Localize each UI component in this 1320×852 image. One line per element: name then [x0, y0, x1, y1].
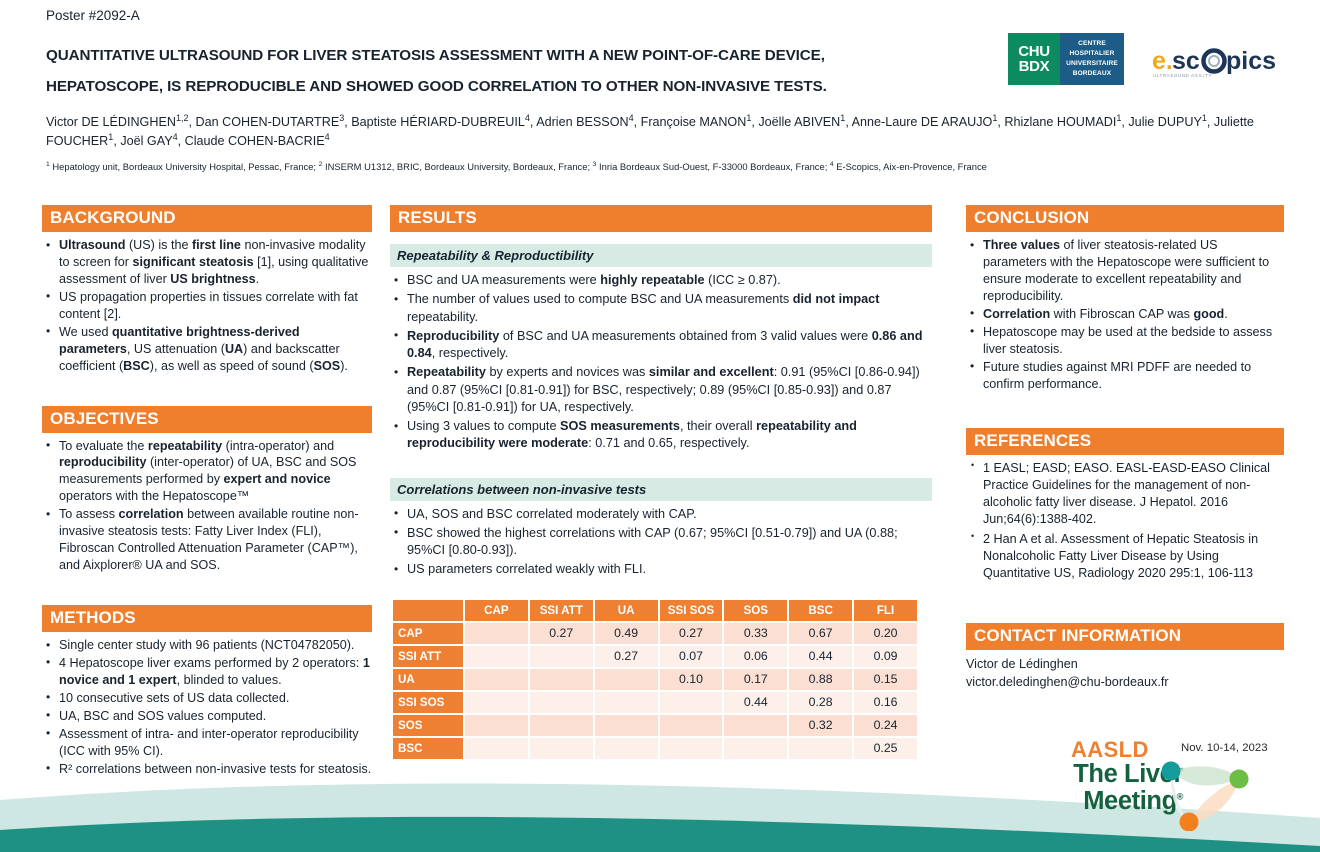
table-header-row: CAPSSI ATTUASSI SOSSOSBSCFLI: [393, 600, 917, 621]
escopics-pics-text: pics: [1226, 47, 1276, 75]
swoosh-dot-green: [1230, 770, 1249, 789]
contact-details: Victor de Lédinghen victor.deledinghen@c…: [966, 656, 1284, 692]
list-item: We used quantitative brightness-derived …: [42, 324, 372, 375]
section-header-references: REFERENCES: [966, 428, 1284, 455]
table-corner-cell: [393, 600, 463, 621]
table-cell: 0.67: [789, 623, 852, 644]
chu-monogram: CHU BDX: [1008, 33, 1060, 85]
table-cell: [789, 738, 852, 759]
list-item: Using 3 values to compute SOS measuremen…: [390, 418, 932, 453]
list-item: Reproducibility of BSC and UA measuremen…: [390, 328, 932, 363]
table-cell: 0.27: [530, 623, 593, 644]
correlation-matrix-table: CAPSSI ATTUASSI SOSSOSBSCFLI CAP0.270.49…: [391, 598, 919, 761]
page-title: QUANTITATIVE ULTRASOUND FOR LIVER STEATO…: [46, 40, 976, 103]
chu-monogram-line-2: BDX: [1019, 59, 1050, 74]
spacer-contact: [966, 585, 1284, 623]
title-line-1: QUANTITATIVE ULTRASOUND FOR LIVER STEATO…: [46, 40, 976, 71]
table-cell: [595, 715, 658, 736]
list-item: BSC showed the highest correlations with…: [390, 525, 932, 560]
table-cell: 0.06: [724, 646, 787, 667]
table-cell: 0.07: [660, 646, 723, 667]
table-cell: [724, 715, 787, 736]
background-bullet-list: Ultrasound (US) is the first line non-in…: [42, 237, 372, 375]
table-cell: 0.33: [724, 623, 787, 644]
contact-email[interactable]: victor.deledinghen@chu-bordeaux.fr: [966, 674, 1284, 692]
correlations-bullet-list: UA, SOS and BSC correlated moderately wi…: [390, 506, 932, 579]
table-cell: [660, 692, 723, 713]
list-item: Future studies against MRI PDFF are need…: [966, 359, 1284, 393]
table-cell: 0.16: [854, 692, 917, 713]
column-header-ua: UA: [595, 600, 658, 621]
table-row: BSC0.25: [393, 738, 917, 759]
poster-number: Poster #2092-A: [46, 8, 140, 23]
table-row: SSI ATT0.270.070.060.440.09: [393, 646, 917, 667]
table-cell: [530, 646, 593, 667]
list-item: Correlation with Fibroscan CAP was good.: [966, 306, 1284, 323]
affiliation-list: 1 Hepatology unit, Bordeaux University H…: [46, 160, 1276, 173]
spacer-methods: [42, 575, 372, 605]
chu-bordeaux-logo: CHU BDX CENTRE HOSPITALIER UNIVERSITAIRE…: [1008, 33, 1124, 85]
chu-monogram-line-1: CHU: [1018, 44, 1050, 59]
table-cell: [595, 738, 658, 759]
right-column: CONCLUSION Three values of liver steatos…: [966, 205, 1284, 692]
table-cell: [465, 692, 528, 713]
list-item: UA, SOS and BSC correlated moderately wi…: [390, 506, 932, 523]
middle-column: RESULTS Repeatability & Reproductibility…: [390, 205, 932, 761]
chu-wordmark-hospitalier: HOSPITALIER: [1070, 49, 1115, 59]
table-cell: [530, 715, 593, 736]
list-item: Assessment of intra- and inter-operator …: [42, 726, 372, 760]
spacer-objectives: [42, 376, 372, 406]
table-cell: 0.20: [854, 623, 917, 644]
list-item: Ultrasound (US) is the first line non-in…: [42, 237, 372, 288]
list-item: 4 Hepatoscope liver exams performed by 2…: [42, 655, 372, 689]
table-cell: [660, 715, 723, 736]
table-cell: 0.27: [595, 646, 658, 667]
row-header-ua: UA: [393, 669, 463, 690]
column-header-cap: CAP: [465, 600, 528, 621]
table-cell: 0.44: [724, 692, 787, 713]
chu-wordmark-centre: CENTRE: [1078, 39, 1106, 49]
section-header-contact: CONTACT INFORMATION: [966, 623, 1284, 650]
list-item: 1 EASL; EASD; EASO. EASL-EASD-EASO Clini…: [966, 460, 1284, 528]
swoosh-dot-teal: [1162, 762, 1181, 781]
table-cell: [660, 738, 723, 759]
table-cell: [530, 738, 593, 759]
column-header-sos: SOS: [724, 600, 787, 621]
row-header-ssi-att: SSI ATT: [393, 646, 463, 667]
objectives-bullet-list: To evaluate the repeatability (intra-ope…: [42, 438, 372, 575]
table-cell: [465, 715, 528, 736]
poster-canvas: Poster #2092-A QUANTITATIVE ULTRASOUND F…: [0, 0, 1320, 852]
aasld-triangle-swoosh-icon: [1153, 759, 1253, 831]
escopics-sc-text: sc: [1172, 47, 1200, 75]
table-cell: 0.25: [854, 738, 917, 759]
swoosh-dot-orange: [1180, 813, 1199, 832]
correlation-matrix-body: CAP0.270.490.270.330.670.20SSI ATT0.270.…: [393, 623, 917, 759]
column-header-bsc: BSC: [789, 600, 852, 621]
table-cell: 0.49: [595, 623, 658, 644]
column-header-ssi-att: SSI ATT: [530, 600, 593, 621]
chu-wordmark-bordeaux: BORDEAUX: [1073, 69, 1112, 79]
chu-wordmark: CENTRE HOSPITALIER UNIVERSITAIRE BORDEAU…: [1060, 33, 1124, 85]
table-cell: [530, 692, 593, 713]
table-cell: [465, 646, 528, 667]
aasld-meeting-date: Nov. 10-14, 2023: [1181, 742, 1268, 754]
spacer-references: [966, 393, 1284, 428]
table-cell: 0.10: [660, 669, 723, 690]
title-line-2: HEPATOSCOPE, IS REPRODUCIBLE AND SHOWED …: [46, 71, 976, 102]
column-header-ssi-sos: SSI SOS: [660, 600, 723, 621]
table-cell: 0.17: [724, 669, 787, 690]
list-item: BSC and UA measurements were highly repe…: [390, 272, 932, 289]
aasld-liver-meeting-logo: AASLD Nov. 10-14, 2023 The Liver Meeting…: [1005, 737, 1305, 832]
row-header-ssi-sos: SSI SOS: [393, 692, 463, 713]
list-item: The number of values used to compute BSC…: [390, 291, 932, 326]
row-header-bsc: BSC: [393, 738, 463, 759]
section-header-results: RESULTS: [390, 205, 932, 232]
section-header-methods: METHODS: [42, 605, 372, 632]
list-item: To evaluate the repeatability (intra-ope…: [42, 438, 372, 506]
spacer-table: [390, 581, 932, 598]
table-row: CAP0.270.490.270.330.670.20: [393, 623, 917, 644]
section-header-background: BACKGROUND: [42, 205, 372, 232]
author-list: Victor DE LÉDINGHEN1,2, Dan COHEN-DUTART…: [46, 113, 1274, 150]
table-cell: 0.15: [854, 669, 917, 690]
list-item: Three values of liver steatosis-related …: [966, 237, 1284, 305]
table-cell: [595, 669, 658, 690]
list-item: UA, BSC and SOS values computed.: [42, 708, 372, 725]
table-row: UA0.100.170.880.15: [393, 669, 917, 690]
escopics-e-text: e.: [1152, 47, 1173, 75]
spacer-sub1: [390, 232, 932, 244]
list-item: US propagation properties in tissues cor…: [42, 289, 372, 323]
table-cell: 0.09: [854, 646, 917, 667]
row-header-cap: CAP: [393, 623, 463, 644]
subsection-header-correlations: Correlations between non-invasive tests: [390, 478, 932, 501]
spacer-sub2: [390, 455, 932, 478]
subsection-header-repeatability: Repeatability & Reproductibility: [390, 244, 932, 267]
escopics-inner-ring-icon: [1209, 56, 1219, 66]
table-cell: [465, 738, 528, 759]
table-cell: 0.28: [789, 692, 852, 713]
chu-wordmark-universitaire: UNIVERSITAIRE: [1066, 59, 1118, 69]
list-item: Single center study with 96 patients (NC…: [42, 637, 372, 654]
table-row: SSI SOS0.440.280.16: [393, 692, 917, 713]
escopics-tagline-text: ULTRASOUND AGILITY: [1153, 73, 1212, 78]
table-cell: [595, 692, 658, 713]
references-list: 1 EASL; EASD; EASO. EASL-EASD-EASO Clini…: [966, 460, 1284, 582]
table-cell: 0.88: [789, 669, 852, 690]
list-item: US parameters correlated weakly with FLI…: [390, 561, 932, 578]
table-row: SOS0.320.24: [393, 715, 917, 736]
list-item: Hepatoscope may be used at the bedside t…: [966, 324, 1284, 358]
section-header-objectives: OBJECTIVES: [42, 406, 372, 433]
repeatability-bullet-list: BSC and UA measurements were highly repe…: [390, 272, 932, 453]
list-item: Repeatability by experts and novices was…: [390, 364, 932, 416]
list-item: 10 consecutive sets of US data collected…: [42, 690, 372, 707]
escopics-logo: e. sc pics ULTRASOUND AGILITY: [1152, 44, 1276, 84]
table-cell: 0.24: [854, 715, 917, 736]
table-cell: [465, 669, 528, 690]
table-cell: 0.44: [789, 646, 852, 667]
table-cell: 0.32: [789, 715, 852, 736]
table-cell: [465, 623, 528, 644]
left-column: BACKGROUND Ultrasound (US) is the first …: [42, 205, 372, 779]
column-header-fli: FLI: [854, 600, 917, 621]
contact-name: Victor de Lédinghen: [966, 656, 1284, 674]
table-cell: 0.27: [660, 623, 723, 644]
table-cell: [530, 669, 593, 690]
list-item: 2 Han A et al. Assessment of Hepatic Ste…: [966, 531, 1284, 582]
methods-bullet-list: Single center study with 96 patients (NC…: [42, 637, 372, 778]
table-cell: [724, 738, 787, 759]
section-header-conclusion: CONCLUSION: [966, 205, 1284, 232]
correlation-matrix-head: CAPSSI ATTUASSI SOSSOSBSCFLI: [393, 600, 917, 621]
escopics-ring-icon: [1204, 51, 1225, 72]
conclusion-bullet-list: Three values of liver steatosis-related …: [966, 237, 1284, 392]
list-item: To assess correlation between available …: [42, 506, 372, 574]
row-header-sos: SOS: [393, 715, 463, 736]
